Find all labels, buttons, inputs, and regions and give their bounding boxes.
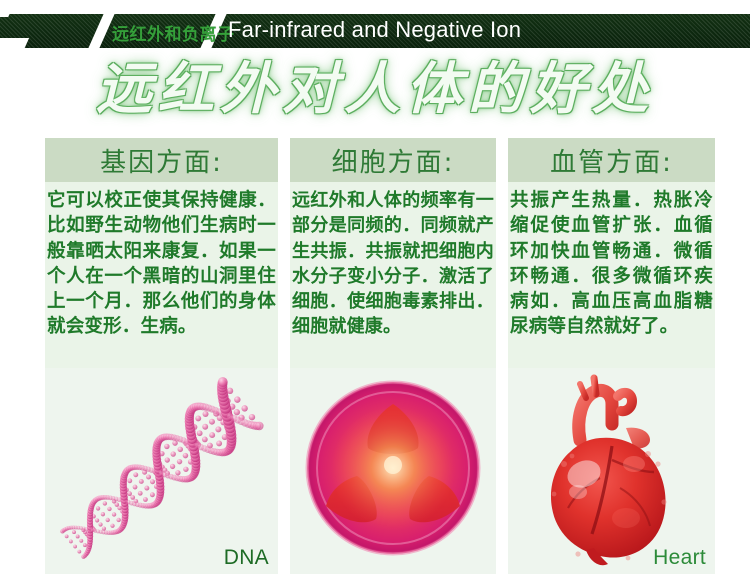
card-heading-label: 细胞方面: xyxy=(332,142,455,179)
card-body-text: 它可以校正使其保持健康．比如野生动物他们生病时一般靠晒太阳来康复．如果一个人在一… xyxy=(47,188,276,340)
card-body-vessel: 共振产生热量．热胀冷缩促使血管扩张．血循环加快血管畅通．微循环畅通．很多微循环疾… xyxy=(508,182,715,368)
dna-helix-icon xyxy=(45,368,278,574)
card-heading-label: 血管方面: xyxy=(550,142,673,179)
ribbon-chinese-label: 远红外和负离子 xyxy=(112,20,235,45)
header-ribbon: 远红外和负离子 Far-infrared and Negative Ion xyxy=(0,14,750,48)
info-card-vessel: 血管方面: 共振产生热量．热胀冷缩促使血管扩张．血循环加快血管畅通．微循环畅通．… xyxy=(508,138,715,574)
page-title: 远红外对人体的好处 xyxy=(0,58,750,120)
info-card-cell: 细胞方面: 远红外和人体的频率有一部分是同频的．同频就产生共振．共振就把细胞内水… xyxy=(290,138,496,574)
card-body-text: 共振产生热量．热胀冷缩促使血管扩张．血循环加快血管畅通．微循环畅通．很多微循环疾… xyxy=(510,188,713,340)
card-header-cell: 细胞方面: xyxy=(290,138,496,182)
card-header-gene: 基因方面: xyxy=(45,138,278,182)
dna-helix-image: DNA xyxy=(45,368,278,574)
red-blood-cell-image xyxy=(290,368,496,574)
card-body-gene: 它可以校正使其保持健康．比如野生动物他们生病时一般靠晒太阳来康复．如果一个人在一… xyxy=(45,182,278,368)
card-header-vessel: 血管方面: xyxy=(508,138,715,182)
card-heading-label: 基因方面: xyxy=(100,142,223,179)
figure-caption-heart: Heart xyxy=(653,546,706,570)
figure-caption-dna: DNA xyxy=(224,546,269,570)
card-body-cell: 远红外和人体的频率有一部分是同频的．同频就产生共振．共振就把细胞内水分子变小分子… xyxy=(290,182,496,368)
red-blood-cell-icon xyxy=(290,368,496,574)
card-body-text: 远红外和人体的频率有一部分是同频的．同频就产生共振．共振就把细胞内水分子变小分子… xyxy=(292,188,494,340)
heart-anatomy-icon xyxy=(508,368,715,574)
ribbon-left-wedge xyxy=(0,38,29,48)
ribbon-english-label: Far-infrared and Negative Ion xyxy=(228,17,521,43)
heart-anatomy-image: Heart xyxy=(508,368,715,574)
info-card-gene: 基因方面: 它可以校正使其保持健康．比如野生动物他们生病时一般靠晒太阳来康复．如… xyxy=(45,138,278,574)
